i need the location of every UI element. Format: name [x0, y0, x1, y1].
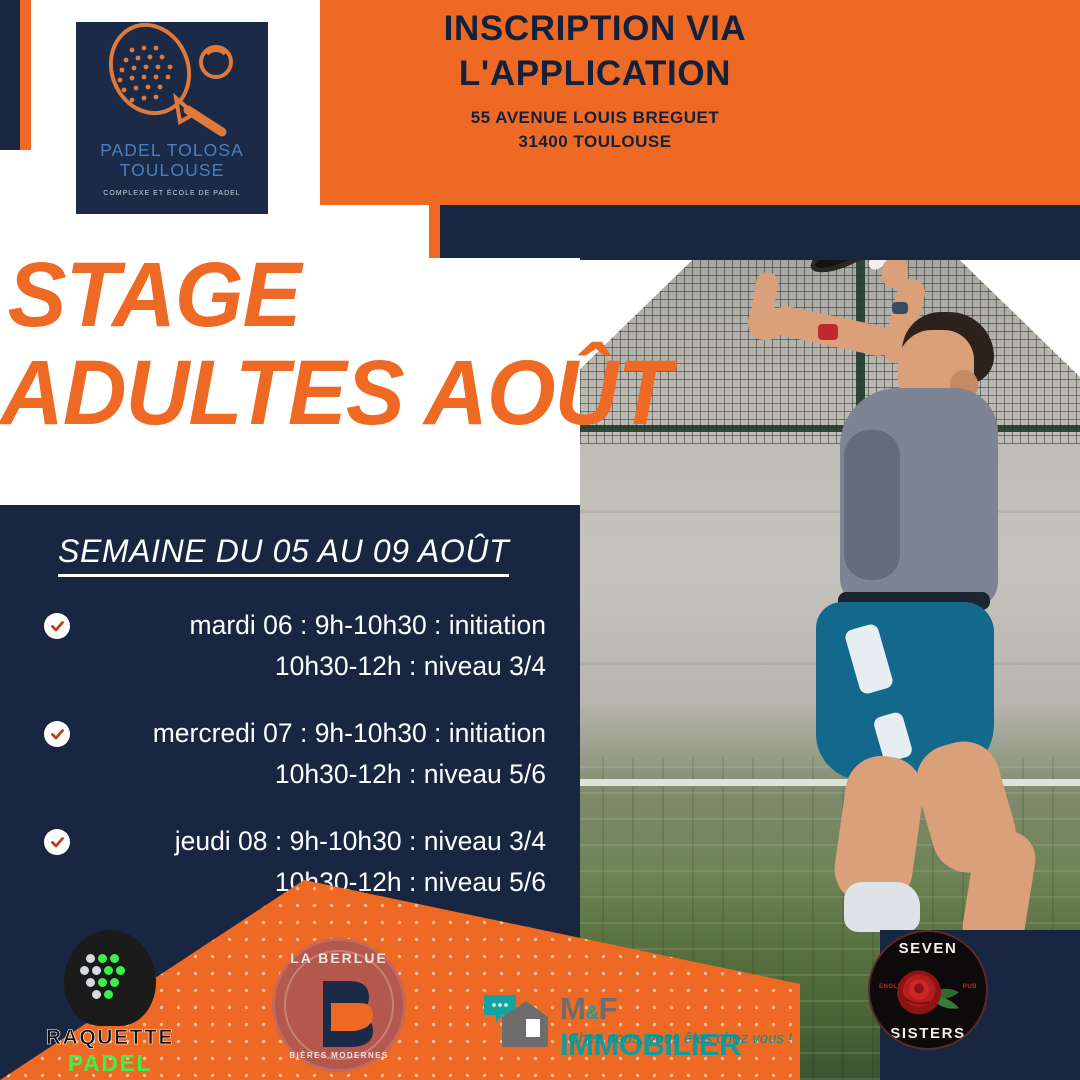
inscription-line1: INSCRIPTION VIA — [360, 6, 830, 51]
la-berlue-badge-icon: LA BERLUE BIÈRES MODERNES — [272, 938, 406, 1072]
inscription-address-line2: 31400 TOULOUSE — [360, 130, 830, 154]
club-logo-tagline: COMPLEXE ET ÉCOLE DE PADEL — [103, 190, 240, 197]
mf-immobilier-tagline: Chez nous, vous êtes chez vous ! — [568, 1030, 792, 1047]
schedule-item-line1: mardi 06 : 9h-10h30 : initiation — [74, 605, 546, 646]
sponsor-raquette-padel: RAQUETTE PADEL SITE 100% PADEL — [30, 930, 190, 1070]
inscription-address-line1: 55 AVENUE LOUIS BREGUET — [360, 106, 830, 130]
player-left-shoe — [844, 882, 920, 932]
la-berlue-name-bottom: BIÈRES MODERNES — [275, 1051, 403, 1060]
player-wristband — [892, 302, 908, 314]
check-icon — [44, 829, 70, 855]
schedule-item: mardi 06 : 9h-10h30 : initiation 10h30-1… — [44, 605, 564, 687]
title-line-1: STAGE — [0, 246, 576, 344]
club-logo-name-line2: TOULOUSE — [120, 160, 225, 180]
club-logo-name-line1: PADEL TOLOSA — [100, 140, 244, 160]
seven-sisters-name-bottom: SISTERS — [870, 1025, 986, 1042]
inscription-text-block: INSCRIPTION VIA L'APPLICATION 55 AVENUE … — [360, 0, 830, 154]
sponsor-seven-sisters: SEVEN ENGLISH PUB SISTERS — [868, 930, 986, 1050]
title-line-2: ADULTES AOÛT — [0, 344, 576, 442]
poster-canvas: INSCRIPTION VIA L'APPLICATION 55 AVENUE … — [0, 0, 1080, 1080]
padel-racket-and-ball-icon — [76, 22, 268, 140]
player-watch — [818, 324, 838, 340]
mf-letter-m: M — [560, 991, 585, 1026]
raquette-padel-name-line2: PADEL — [30, 1050, 190, 1077]
raquette-padel-name-line1: RAQUETTE — [30, 1026, 190, 1050]
racket-svg — [76, 22, 268, 140]
inscription-line2: L'APPLICATION — [360, 51, 830, 96]
page-title: STAGE ADULTES AOÛT — [0, 246, 600, 442]
sponsor-mf-immobilier: M&F IMMOBILIER Chez nous, vous êtes chez… — [482, 985, 772, 1065]
schedule-heading: SEMAINE DU 05 AU 09 AOÛT — [58, 533, 509, 577]
court-white-line — [572, 779, 1080, 786]
schedule-item-text: mercredi 07 : 9h-10h30 : initiation 10h3… — [74, 713, 564, 795]
raquette-padel-icon — [64, 930, 156, 1026]
schedule-item-line2: 10h30-12h : niveau 3/4 — [74, 646, 546, 687]
schedule-item-text: mardi 06 : 9h-10h30 : initiation 10h30-1… — [74, 605, 564, 687]
schedule-item-line2: 10h30-12h : niveau 5/6 — [74, 754, 546, 795]
player-shirt-shadow — [844, 430, 900, 580]
schedule-item-line1: jeudi 08 : 9h-10h30 : niveau 3/4 — [74, 821, 546, 862]
la-berlue-monogram-b — [275, 941, 403, 1069]
seven-sisters-name-top: SEVEN — [870, 940, 986, 957]
wall-line-1 — [572, 510, 1080, 513]
schedule-item-line1: mercredi 07 : 9h-10h30 : initiation — [74, 713, 546, 754]
mf-ampersand: & — [585, 1003, 598, 1024]
club-logo-card: PADEL TOLOSA TOULOUSE COMPLEXE ET ÉCOLE … — [76, 22, 268, 214]
check-icon — [44, 721, 70, 747]
check-icon — [44, 613, 70, 639]
sponsor-la-berlue: LA BERLUE BIÈRES MODERNES — [272, 938, 412, 1068]
mf-immobilier-name: M&F IMMOBILIER — [560, 991, 772, 1063]
schedule-item: mercredi 07 : 9h-10h30 : initiation 10h3… — [44, 713, 564, 795]
rose-icon — [893, 962, 963, 1022]
mf-letter-f: F — [599, 991, 617, 1026]
seven-sisters-side-right: PUB — [963, 984, 977, 990]
house-chat-icon — [482, 991, 552, 1049]
seven-sisters-badge-icon: SEVEN ENGLISH PUB SISTERS — [868, 930, 988, 1050]
